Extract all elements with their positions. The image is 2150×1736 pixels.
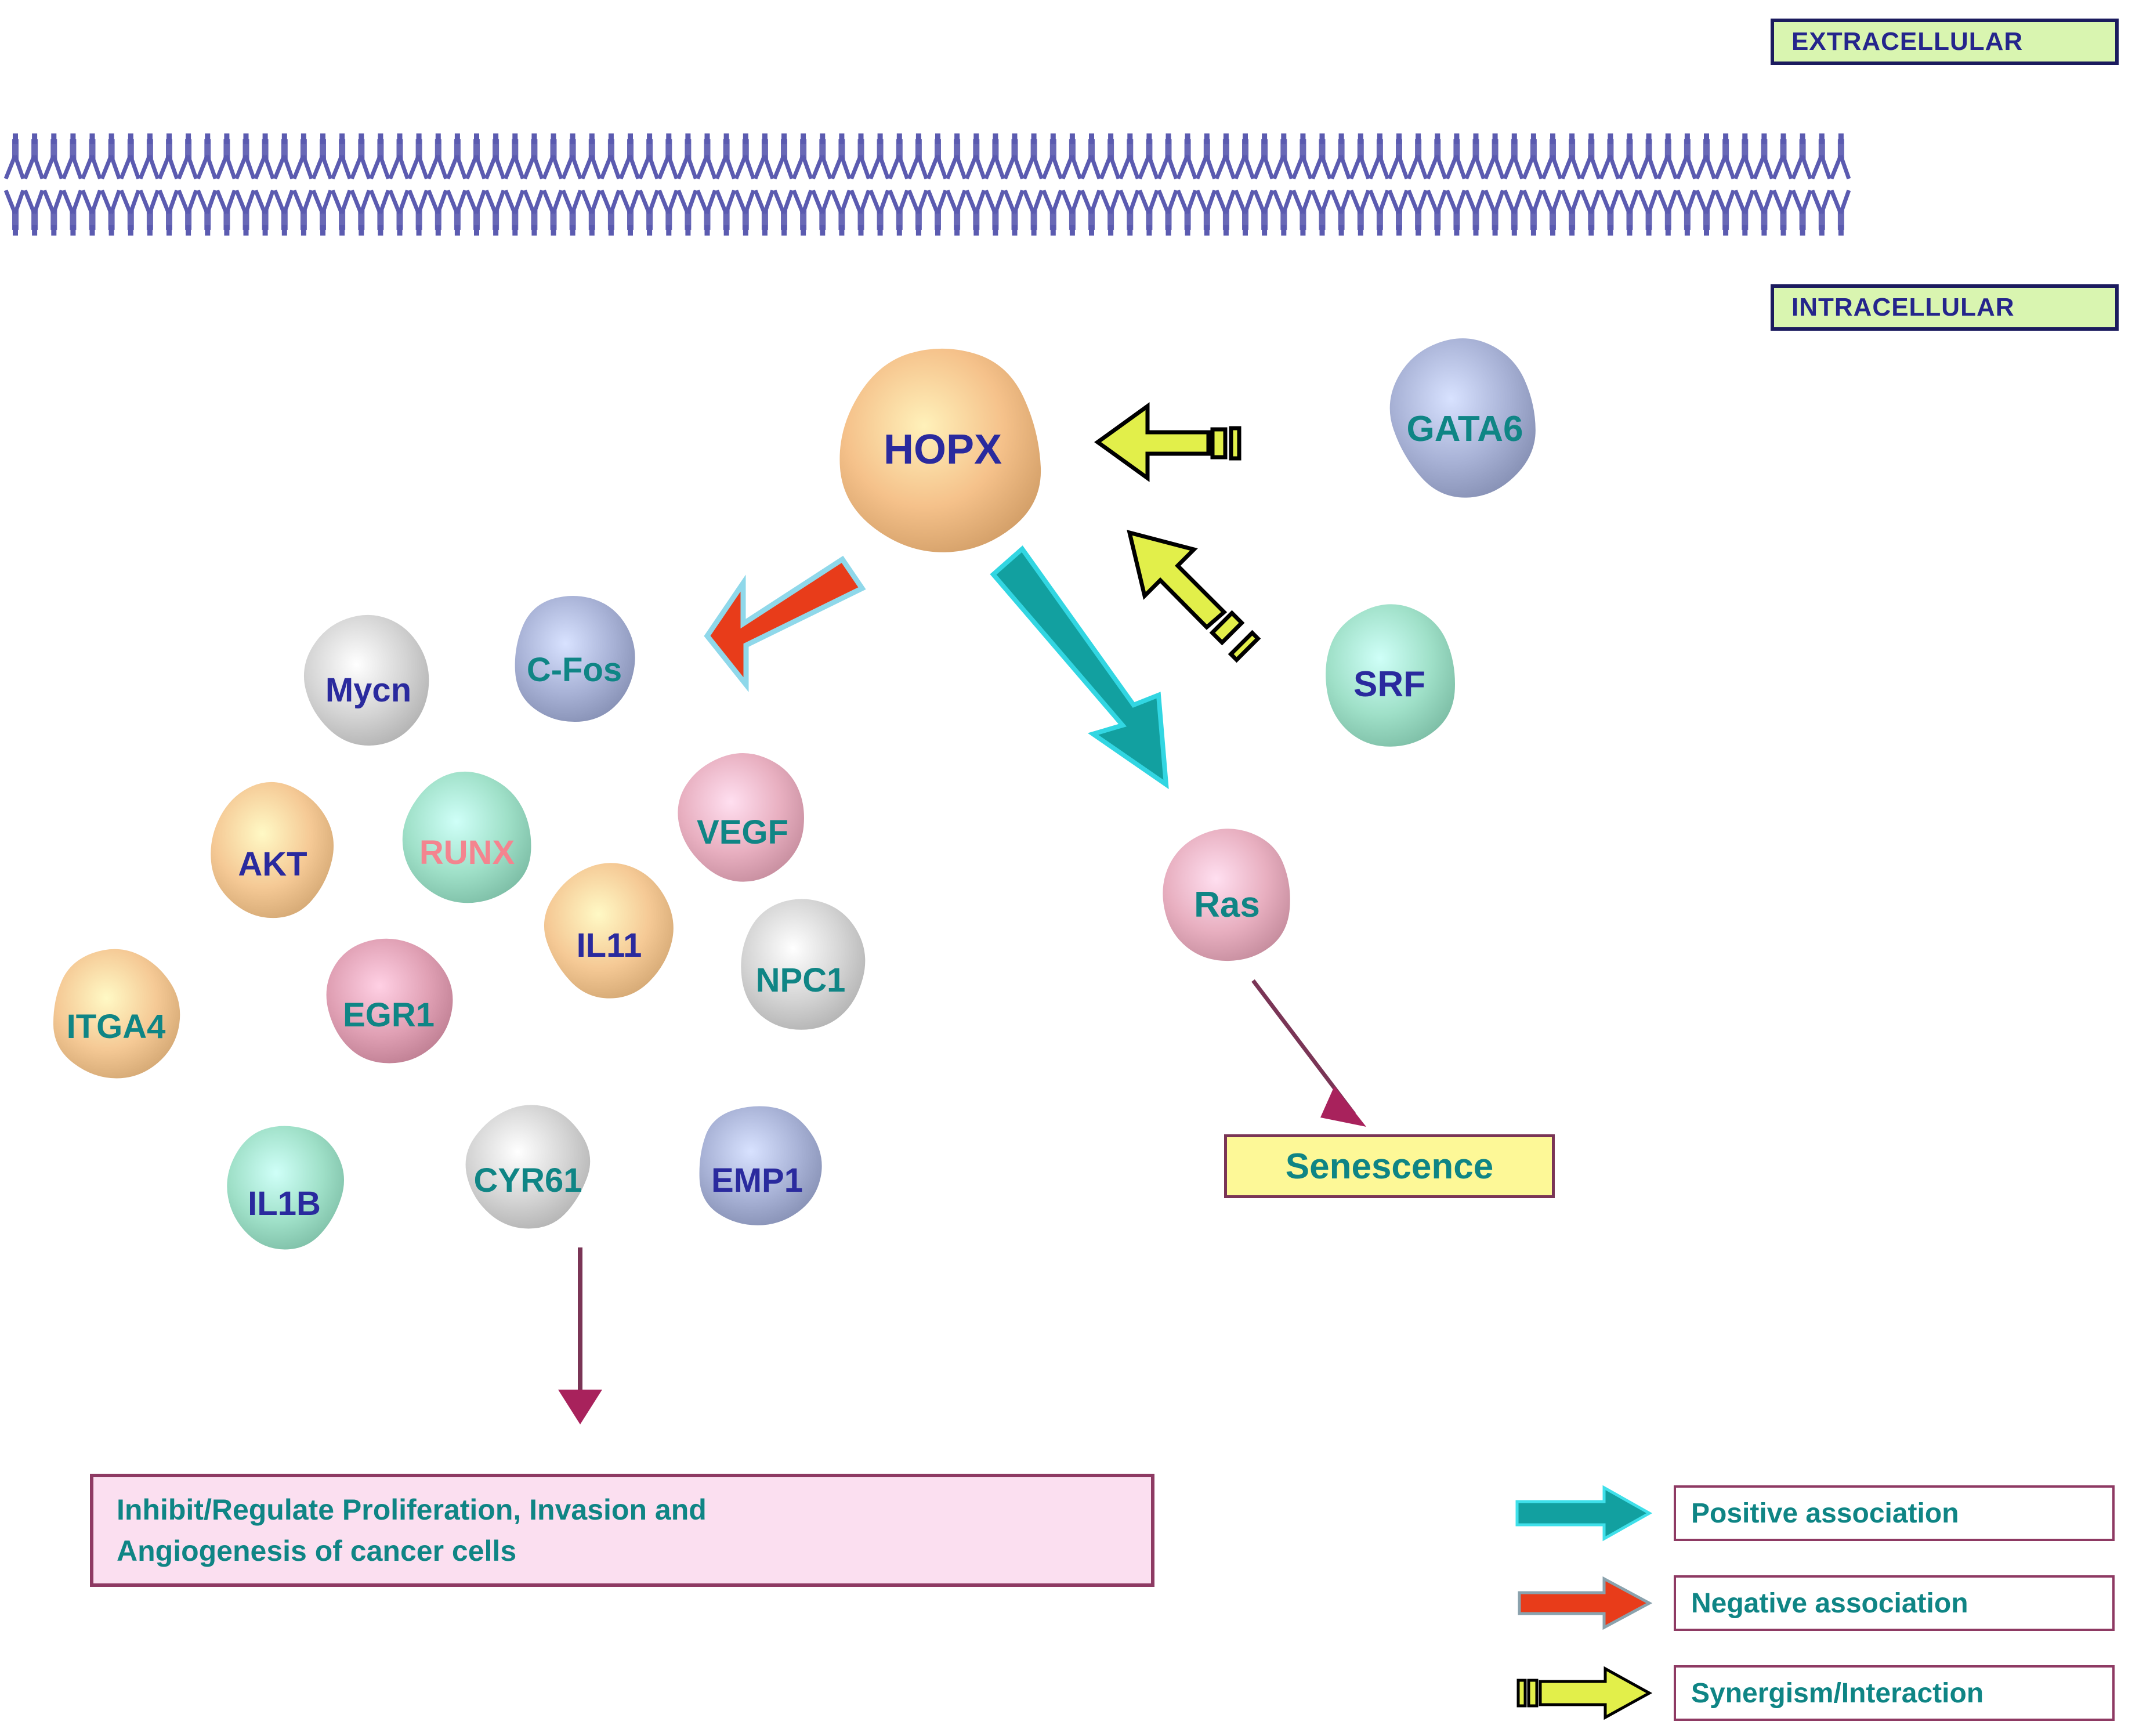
protein-node-label: C-Fos (527, 653, 622, 687)
intracellular-label: INTRACELLULAR (1771, 284, 2119, 331)
protein-node-il1b[interactable]: IL1B (218, 1120, 351, 1288)
protein-node-label: GATA6 (1407, 411, 1523, 447)
protein-node-ras[interactable]: Ras (1152, 821, 1302, 989)
legend-label-box-negative: Negative association (1674, 1575, 2115, 1631)
extracellular-label-text: EXTRACELLULAR (1791, 27, 2023, 56)
protein-node-emp1[interactable]: EMP1 (687, 1097, 827, 1265)
protein-node-gata6[interactable]: GATA6 (1381, 334, 1549, 525)
arrow-ras-to-senescence (1253, 981, 1366, 1127)
protein-node-label: CYR61 (474, 1164, 582, 1198)
legend-label-box-synergism: Synergism/Interaction (1674, 1665, 2115, 1721)
arrow-synergism-gata6-to-hopx (1098, 406, 1239, 478)
legend-label-box-positive: Positive association (1674, 1485, 2115, 1541)
protein-node-srf[interactable]: SRF (1311, 598, 1468, 772)
protein-node-label: EMP1 (711, 1164, 803, 1198)
protein-node-label: VEGF (697, 816, 788, 849)
senescence-label: Senescence (1286, 1146, 1493, 1187)
protein-node-runx[interactable]: RUNX (394, 766, 540, 940)
intracellular-label-text: INTRACELLULAR (1791, 293, 2015, 322)
pathway-diagram: EXTRACELLULAR INTRACELLULAR (0, 0, 2150, 1736)
protein-node-label: Ras (1194, 887, 1260, 923)
arrow-negative-hopx-to-targets (707, 559, 862, 685)
legend-row-synergism: Synergism/Interaction (1517, 1665, 1662, 1721)
protein-node-label: IL11 (577, 929, 642, 963)
arrow-positive-hopx-to-ras (993, 549, 1166, 784)
protein-node-label: EGR1 (343, 999, 435, 1032)
legend-label-negative: Negative association (1691, 1587, 1968, 1619)
protein-node-itga4[interactable]: ITGA4 (44, 940, 189, 1114)
legend-arrow-synergism-icon (1517, 1665, 1662, 1721)
protein-node-akt[interactable]: AKT (200, 777, 345, 952)
protein-node-label: HOPX (884, 429, 1002, 471)
outcome-box: Inhibit/Regulate Proliferation, Invasion… (90, 1474, 1154, 1587)
protein-node-label: NPC1 (756, 964, 846, 997)
legend-label-positive: Positive association (1691, 1498, 1959, 1529)
legend-label-synergism: Synergism/Interaction (1691, 1677, 1983, 1709)
protein-node-mycn[interactable]: Mycn (296, 606, 441, 775)
legend-row-negative: Negative association (1517, 1575, 1662, 1631)
lipid-bilayer (12, 132, 1856, 237)
protein-node-hopx[interactable]: HOPX (827, 334, 1059, 566)
legend-row-positive: Positive association (1517, 1485, 1662, 1541)
protein-node-label: SRF (1353, 667, 1425, 703)
outcome-line-2: Angiogenesis of cancer cells (117, 1531, 516, 1572)
protein-node-label: IL1B (248, 1187, 321, 1221)
protein-node-label: RUNX (419, 836, 515, 870)
protein-node-il11[interactable]: IL11 (537, 859, 682, 1033)
outcome-line-1: Inhibit/Regulate Proliferation, Invasion… (117, 1489, 707, 1531)
protein-node-npc1[interactable]: NPC1 (728, 894, 873, 1068)
protein-node-egr1[interactable]: EGR1 (316, 928, 461, 1102)
legend-arrow-negative-icon (1517, 1575, 1662, 1631)
extracellular-label: EXTRACELLULAR (1771, 19, 2119, 65)
legend-arrow-positive-icon (1517, 1485, 1662, 1541)
protein-node-label: ITGA4 (67, 1010, 166, 1044)
protein-node-cfos[interactable]: C-Fos (502, 586, 647, 754)
arrow-cyr61-to-outcome (558, 1247, 602, 1424)
arrow-synergism-srf-to-hopx (1130, 533, 1258, 660)
protein-node-label: Mycn (325, 674, 411, 707)
protein-node-cyr61[interactable]: CYR61 (458, 1097, 598, 1265)
protein-node-label: AKT (238, 848, 307, 881)
senescence-box: Senescence (1224, 1134, 1555, 1198)
